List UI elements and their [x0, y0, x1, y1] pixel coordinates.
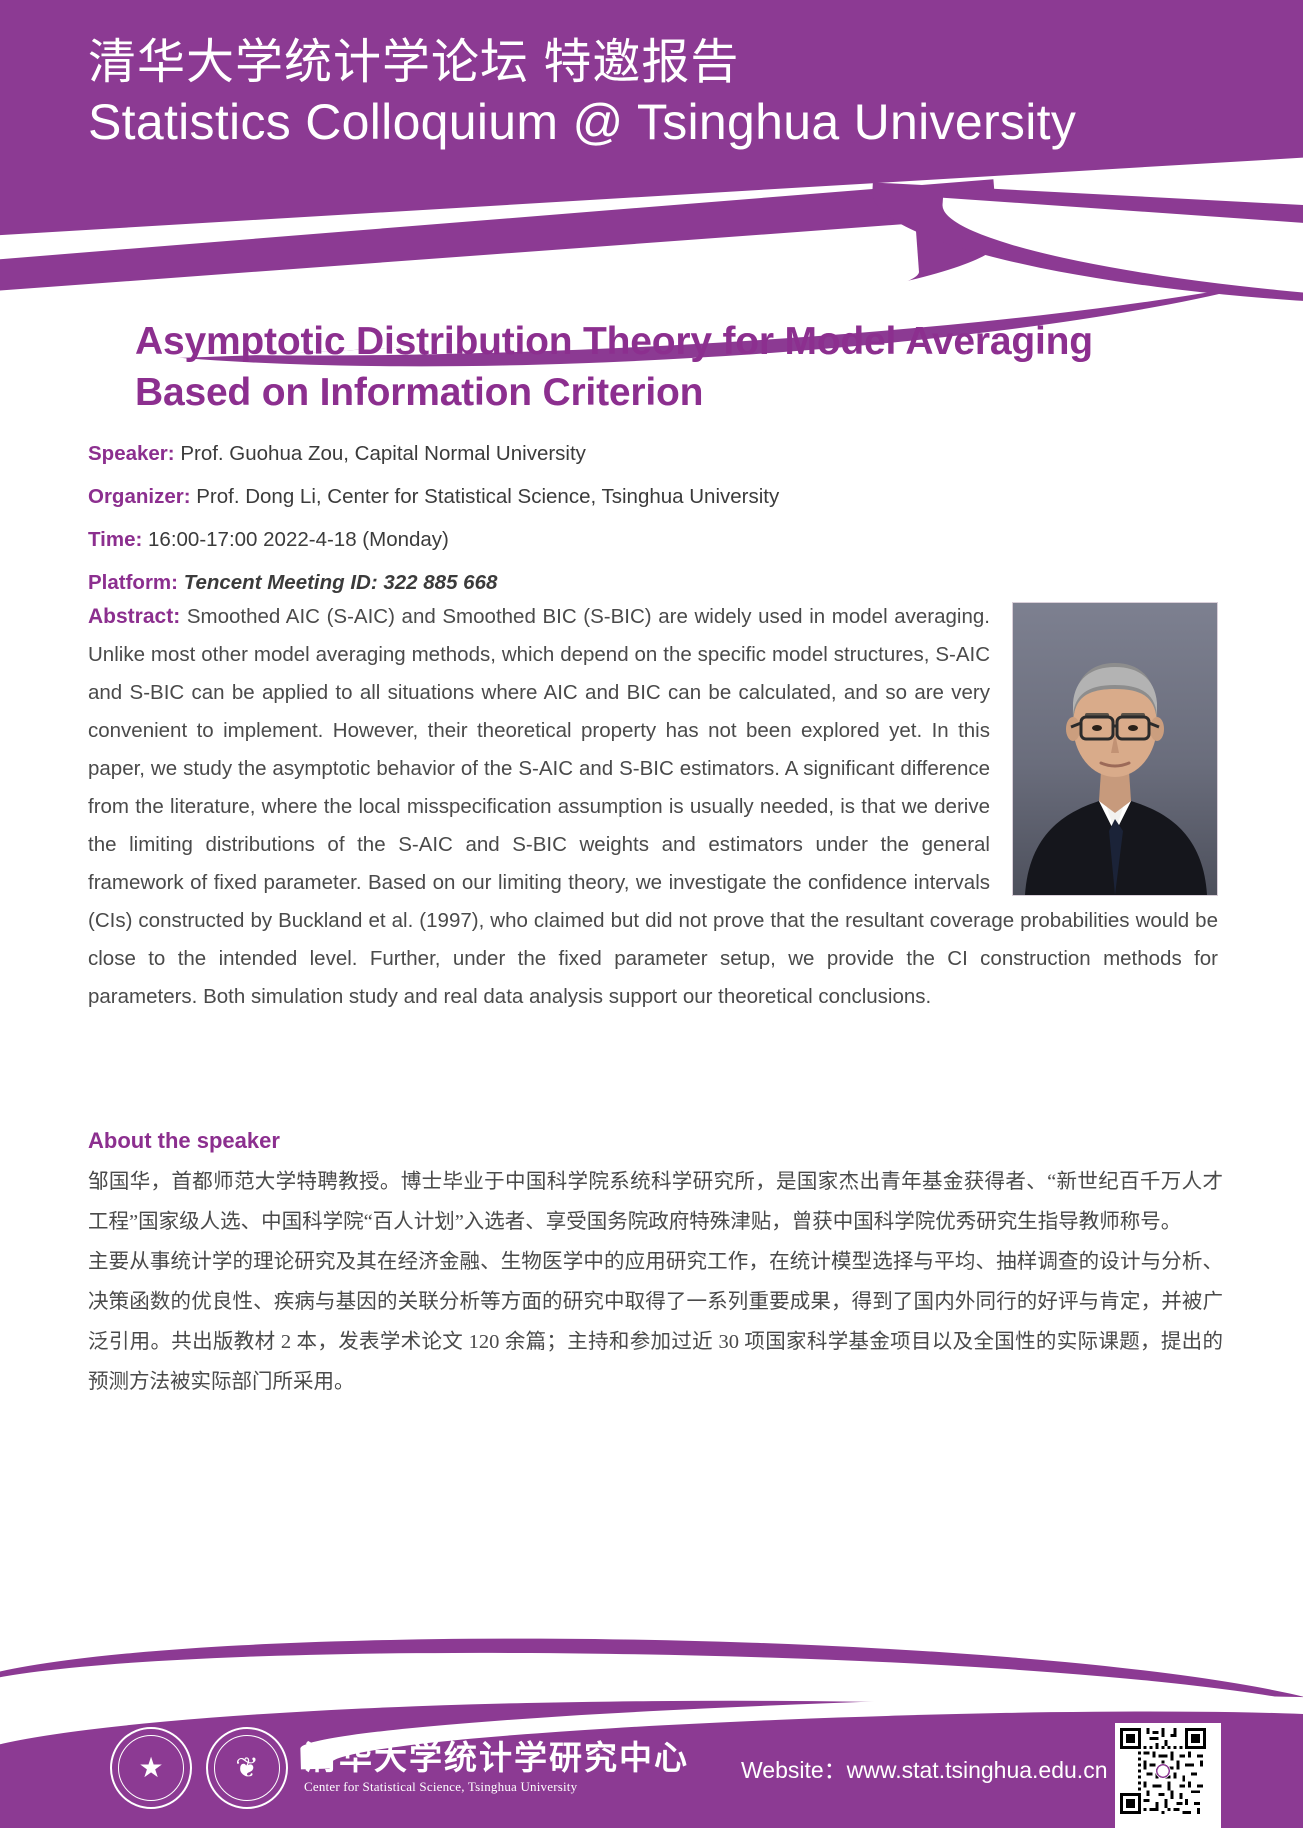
center-for-statistical-science-seal-icon: ❦	[206, 1727, 288, 1809]
meta-row-time: Time: 16:00-17:00 2022-4-18 (Monday)	[88, 526, 1218, 554]
talk-title: Asymptotic Distribution Theory for Model…	[135, 316, 1165, 418]
meta-row-speaker: Speaker: Prof. Guohua Zou, Capital Norma…	[88, 440, 1218, 468]
abstract-label: Abstract:	[88, 605, 180, 628]
header-title-en: Statistics Colloquium @ Tsinghua Univers…	[88, 92, 1076, 152]
footer-org-block: 清华大学统计学研究中心 Center for Statistical Scien…	[304, 1740, 689, 1796]
tsinghua-university-seal-icon: ★	[110, 1727, 192, 1809]
time-value: 16:00-17:00 2022-4-18 (Monday)	[148, 528, 449, 551]
website-label: Website：	[741, 1757, 847, 1783]
footer-bottom-edge	[0, 1828, 1303, 1840]
poster: 清华大学统计学论坛 特邀报告 Statistics Colloquium @ T…	[0, 0, 1303, 1840]
footer-org-en: Center for Statistical Science, Tsinghua…	[304, 1778, 689, 1796]
footer-content: ★ ❦ 清华大学统计学研究中心 Center for Statistical S…	[0, 1708, 1303, 1828]
meta-row-platform: Platform: Tencent Meeting ID: 322 885 66…	[88, 569, 1218, 597]
abstract-block: Abstract: Smoothed AIC (S-AIC) and Smoot…	[88, 598, 1218, 1016]
about-speaker-body: 邹国华，首都师范大学特聘教授。博士毕业于中国科学院系统科学研究所，是国家杰出青年…	[88, 1162, 1223, 1402]
header-title-cn: 清华大学统计学论坛 特邀报告	[88, 34, 1076, 92]
meta-row-organizer: Organizer: Prof. Dong Li, Center for Sta…	[88, 483, 1218, 511]
bio-paragraph-2: 主要从事统计学的理论研究及其在经济金融、生物医学中的应用研究工作，在统计模型选择…	[88, 1242, 1223, 1402]
qr-code[interactable]	[1115, 1723, 1221, 1829]
website-url[interactable]: www.stat.tsinghua.edu.cn	[847, 1757, 1108, 1783]
footer-org-cn: 清华大学统计学研究中心	[304, 1740, 689, 1778]
header-title-block: 清华大学统计学论坛 特邀报告 Statistics Colloquium @ T…	[88, 34, 1076, 152]
speaker-photo	[1012, 602, 1218, 896]
organizer-label: Organizer:	[88, 485, 191, 508]
about-speaker-heading: About the speaker	[88, 1128, 280, 1154]
organizer-value: Prof. Dong Li, Center for Statistical Sc…	[196, 485, 779, 508]
speaker-label: Speaker:	[88, 442, 175, 465]
css-seal-glyph: ❦	[235, 1754, 258, 1782]
tsinghua-seal-star-glyph: ★	[138, 1754, 163, 1782]
bio-paragraph-1: 邹国华，首都师范大学特聘教授。博士毕业于中国科学院系统科学研究所，是国家杰出青年…	[88, 1162, 1223, 1242]
footer-website[interactable]: Website：www.stat.tsinghua.edu.cn	[741, 1751, 1108, 1785]
platform-label: Platform:	[88, 571, 178, 594]
meta-block: Speaker: Prof. Guohua Zou, Capital Norma…	[88, 440, 1218, 612]
platform-value: Tencent Meeting ID: 322 885 668	[184, 571, 498, 594]
speaker-value: Prof. Guohua Zou, Capital Normal Univers…	[180, 442, 586, 465]
time-label: Time:	[88, 528, 142, 551]
